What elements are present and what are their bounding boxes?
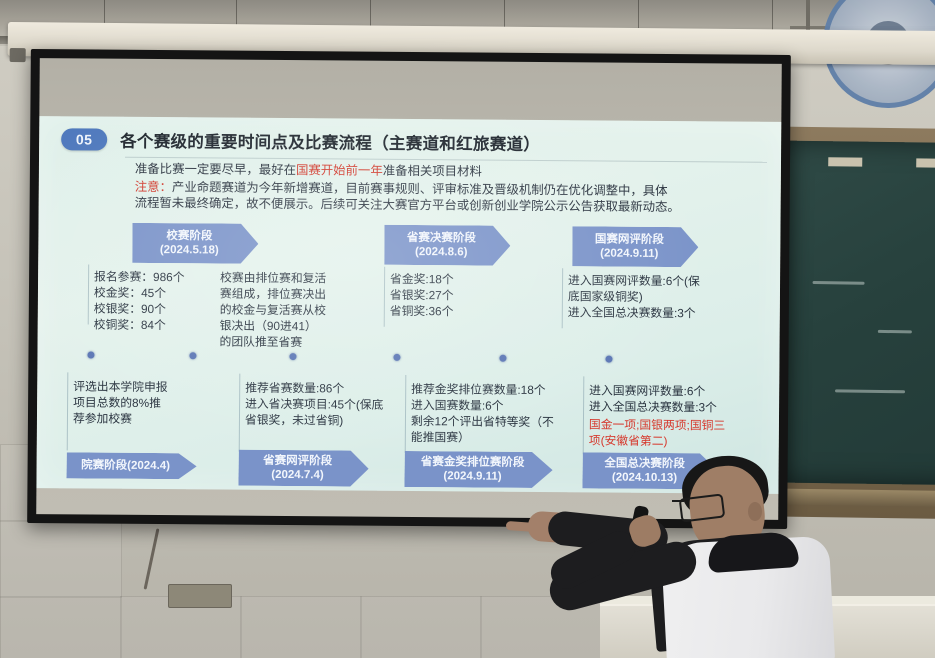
stage-tag-national-online-review[interactable]: 国赛网评阶段 (2024.9.11)	[572, 226, 698, 267]
stage-tag-school-round[interactable]: 校赛阶段 (2024.5.18)	[132, 223, 258, 264]
presenter: WELC ME	[612, 448, 862, 658]
wall-tile	[0, 520, 122, 598]
stage-tag-date: (2024.9.11)	[443, 469, 501, 484]
blackboard-surface	[780, 141, 935, 486]
connector-line	[239, 374, 241, 452]
wall-tile	[240, 596, 362, 658]
presenter-ear	[748, 502, 762, 521]
timeline-dot	[289, 353, 296, 360]
stage-body-college-round: 评选出本学院申报 项目总数的8%推 荐参加校赛	[73, 378, 223, 427]
connector-line	[562, 268, 563, 328]
stage-body-school-description: 校赛由排位赛和复活 赛组成，排位赛决出 的校金与复活赛从校 银决出（90进41）…	[220, 270, 343, 351]
classroom-scene: 05 各个赛级的重要时间点及比赛流程（主赛道和红旅赛道） 准备比赛一定要尽早，最…	[0, 0, 935, 658]
stage-tag-date: (2024.7.4)	[271, 468, 324, 483]
note-line1-post: 准备相关项目材料	[383, 164, 482, 179]
timeline-dot	[189, 352, 196, 359]
stage-body-national-final: 进入国赛网评数量:6个 进入全国总决赛数量:3个	[589, 382, 769, 415]
slide-title: 各个赛级的重要时间点及比赛流程（主赛道和红旅赛道）	[120, 128, 540, 155]
stage-body-province-gold-ranking: 推荐金奖排位赛数量:18个 进入国赛数量:6个 剩余12个评出省特等奖（不 能推…	[411, 381, 597, 446]
cable-connector-box	[168, 584, 232, 608]
timeline-dot	[393, 354, 400, 361]
stage-body-province-online-review: 推荐省赛数量:86个 进入省决赛项目:45个(保底 省银奖，未过省铜)	[245, 380, 413, 429]
slide-header: 05 各个赛级的重要时间点及比赛流程（主赛道和红旅赛道）	[61, 124, 771, 160]
connector-line	[88, 264, 89, 324]
stage-tag-date: (2024.5.18)	[160, 243, 219, 258]
stage-body-national-online-counts: 进入国赛网评数量:6个(保 底国家级铜奖) 进入全国总决赛数量:3个	[568, 272, 744, 321]
stage-tag-province-online-review[interactable]: 省赛网评阶段 (2024.7.4)	[238, 450, 368, 487]
stage-tag-title: 校赛阶段	[166, 229, 212, 244]
note-line1-pre: 准备比赛一定要尽早，最好在	[135, 162, 296, 177]
stage-tag-title: 国赛网评阶段	[595, 232, 664, 247]
timeline-dot	[605, 356, 612, 363]
stage-tag-province-gold-ranking[interactable]: 省赛金奖排位赛阶段 (2024.9.11)	[404, 451, 552, 488]
stage-tag-date: (2024.9.11)	[600, 247, 658, 262]
presentation-slide: 05 各个赛级的重要时间点及比赛流程（主赛道和红旅赛道） 准备比赛一定要尽早，最…	[36, 116, 781, 494]
stage-tag-college-round[interactable]: 院赛阶段(2024.4)	[67, 452, 197, 479]
section-number-badge: 05	[61, 128, 107, 150]
connector-line	[67, 372, 69, 450]
stage-body-school-counts: 报名参赛：986个 校金奖：45个 校银奖：90个 校铜奖：84个	[94, 269, 216, 334]
note-paragraph: 准备比赛一定要尽早，最好在国赛开始前一年准备相关项目材料 注意：产业命题赛道为今…	[135, 161, 775, 217]
stage-tag-title: 省赛决赛阶段	[407, 230, 476, 245]
note-caution-label: 注意：	[135, 179, 172, 193]
stage-tag-date: (2024.8.6)	[415, 245, 468, 260]
wall-tile	[0, 596, 122, 658]
wall-tile	[360, 596, 482, 658]
glasses-temple	[672, 500, 684, 502]
note-line1-highlight: 国赛开始前一年	[296, 163, 383, 178]
stage-tag-title: 院赛阶段(2024.4)	[81, 458, 170, 473]
stage-body-national-final-results: 国金一项;国银两项;国铜三 项(安徽省第二)	[589, 416, 769, 449]
connector-line	[384, 267, 385, 327]
stage-tag-province-final[interactable]: 省赛决赛阶段 (2024.8.6)	[384, 225, 510, 266]
stage-tag-title: 省赛金奖排位赛阶段	[421, 455, 525, 470]
timeline-dot	[87, 351, 94, 358]
stage-body-province-final-counts: 省金奖:18个 省银奖:27个 省铜奖:36个	[390, 271, 530, 320]
stage-tag-title: 省赛网评阶段	[263, 453, 332, 468]
timeline-dot	[499, 355, 506, 362]
